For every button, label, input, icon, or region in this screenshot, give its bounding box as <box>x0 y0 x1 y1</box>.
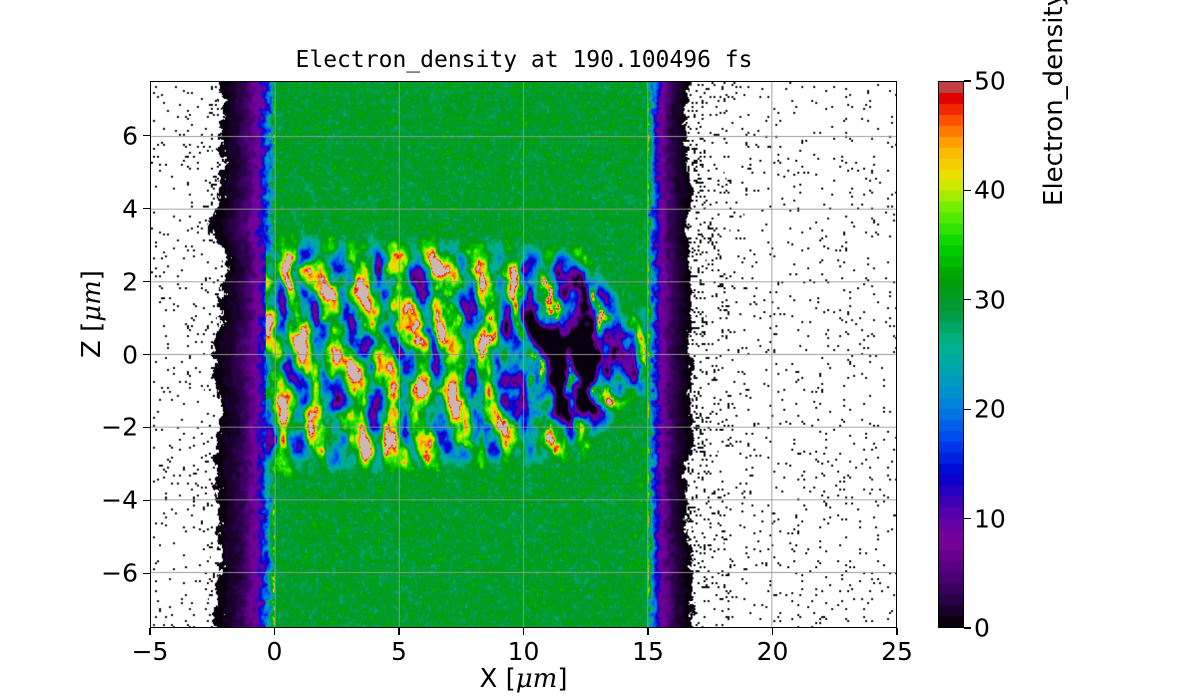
x-tick-label-5: 20 <box>757 639 789 664</box>
x-tick-0 <box>149 628 150 635</box>
y-tick-3 <box>143 354 150 355</box>
x-tick-4 <box>647 628 648 635</box>
x-tick-3 <box>523 628 524 635</box>
x-axis-label: X [μm] <box>150 665 897 693</box>
y-tick-2 <box>143 427 150 428</box>
density-heatmap <box>151 82 896 627</box>
y-tick-5 <box>143 208 150 209</box>
colorbar-label: Electron_density[nc] <box>1040 0 1076 355</box>
colorbar-tick-1 <box>964 518 971 519</box>
y-tick-label-6: 6 <box>94 123 138 148</box>
x-tick-2 <box>398 628 399 635</box>
y-tick-0 <box>143 573 150 574</box>
x-axis-label-unit: μm <box>516 664 558 694</box>
x-tick-5 <box>772 628 773 635</box>
colorbar[interactable] <box>938 81 964 628</box>
colorbar-tick-label-1: 10 <box>974 506 1006 531</box>
colorbar-label-text: Electron_density[ <box>1039 0 1069 206</box>
colorbar-tick-label-0: 0 <box>974 616 990 641</box>
y-tick-label-2: −2 <box>94 415 138 440</box>
x-tick-6 <box>896 628 897 635</box>
colorbar-tick-label-2: 20 <box>974 397 1006 422</box>
figure-canvas: Electron_density at 190.100496 fs −50510… <box>0 0 1200 700</box>
colorbar-tick-label-5: 50 <box>974 69 1006 94</box>
x-tick-1 <box>274 628 275 635</box>
x-tick-label-4: 15 <box>632 639 664 664</box>
x-tick-label-2: 5 <box>391 639 407 664</box>
y-tick-4 <box>143 281 150 282</box>
x-tick-label-1: 0 <box>267 639 283 664</box>
colorbar-tick-label-3: 30 <box>974 287 1006 312</box>
y-tick-label-0: −6 <box>94 561 138 586</box>
colorbar-tick-4 <box>964 190 971 191</box>
y-tick-1 <box>143 500 150 501</box>
colorbar-tick-3 <box>964 299 971 300</box>
y-axis-label-symbol: Z <box>77 340 107 358</box>
y-axis-label: Z [μm] <box>78 214 106 414</box>
y-axis-label-unit: μm <box>77 280 107 322</box>
x-axis-label-symbol: X <box>480 664 498 694</box>
page-title: Electron_density at 190.100496 fs <box>150 46 898 74</box>
colorbar-tick-0 <box>964 627 971 628</box>
colorbar-gradient <box>939 82 963 627</box>
colorbar-tick-2 <box>964 409 971 410</box>
y-tick-label-1: −4 <box>94 488 138 513</box>
x-tick-label-3: 10 <box>508 639 540 664</box>
x-tick-label-0: −5 <box>132 639 169 664</box>
x-tick-label-6: 25 <box>881 639 913 664</box>
plot-axes[interactable] <box>150 81 897 628</box>
colorbar-tick-5 <box>964 80 971 81</box>
y-tick-6 <box>143 135 150 136</box>
colorbar-tick-label-4: 40 <box>974 178 1006 203</box>
